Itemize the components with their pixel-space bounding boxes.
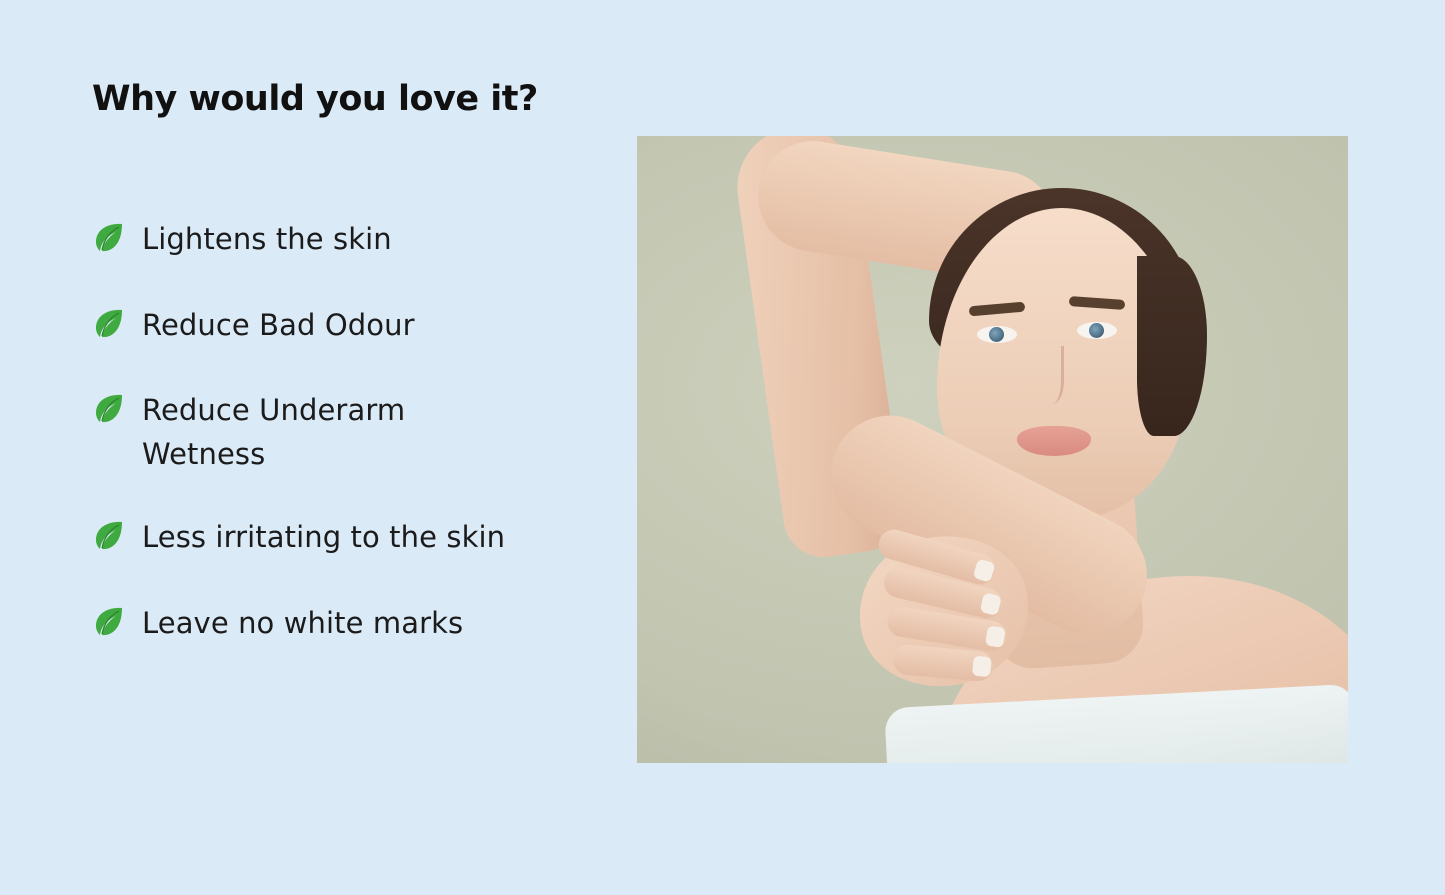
photo-vignette [637, 136, 1348, 763]
leaf-icon [92, 518, 126, 552]
benefits-panel: Why would you love it? Lightens the skin [92, 78, 632, 120]
benefit-label: Less irritating to the skin [142, 516, 505, 560]
leaf-icon [92, 220, 126, 254]
leaf-icon [92, 306, 126, 340]
product-model-photo [637, 136, 1348, 763]
benefits-list: Lightens the skin Reduce Bad Odour [92, 218, 632, 687]
list-item: Leave no white marks [92, 602, 632, 646]
leaf-icon [92, 391, 126, 425]
leaf-icon [92, 604, 126, 638]
list-item: Less irritating to the skin [92, 516, 632, 560]
benefit-label: Reduce Underarm Wetness [142, 389, 482, 476]
benefit-label: Leave no white marks [142, 602, 463, 646]
list-item: Lightens the skin [92, 218, 632, 262]
list-item: Reduce Bad Odour [92, 304, 632, 348]
list-item: Reduce Underarm Wetness [92, 389, 632, 476]
benefit-label: Lightens the skin [142, 218, 392, 262]
page-title: Why would you love it? [92, 78, 632, 120]
benefit-label: Reduce Bad Odour [142, 304, 415, 348]
promo-banner: Why would you love it? Lightens the skin [0, 0, 1445, 895]
